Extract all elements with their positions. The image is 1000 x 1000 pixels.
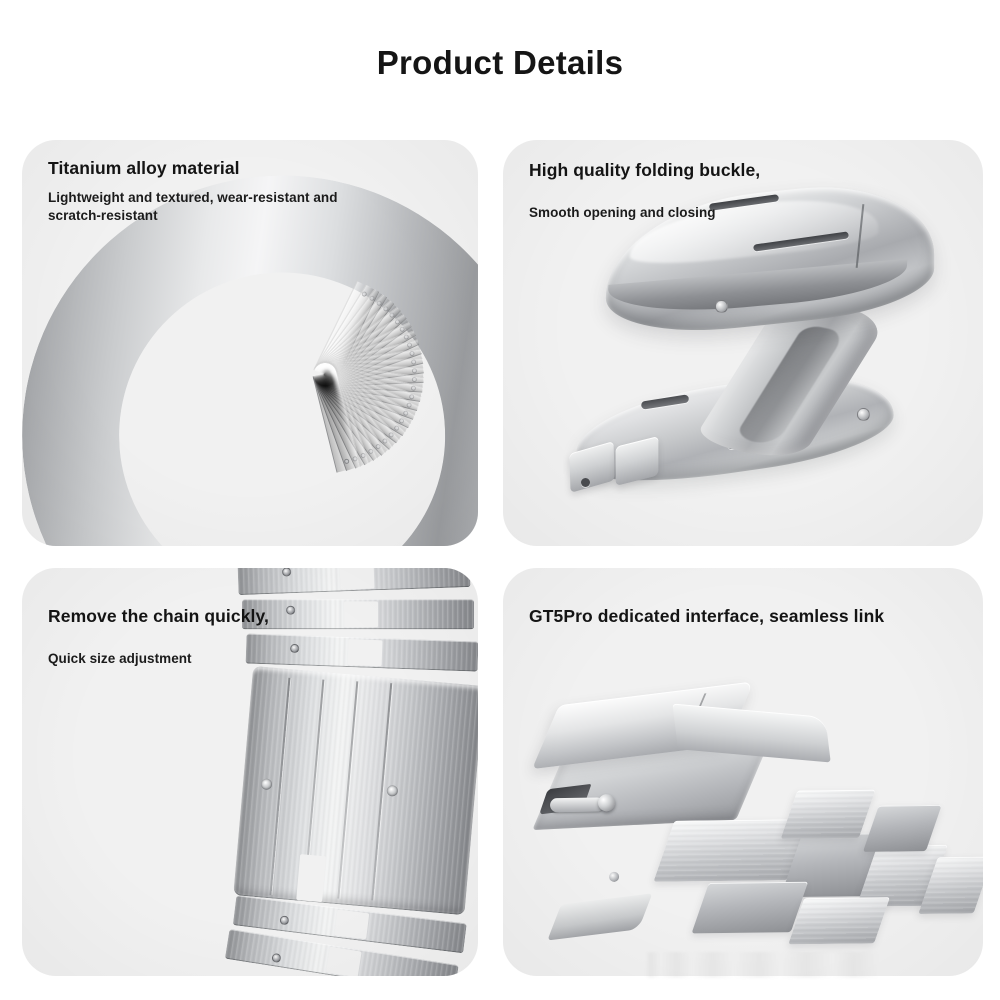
link-notch [326, 947, 362, 976]
link-notch [348, 639, 383, 666]
link-pin [286, 606, 295, 615]
bracelet-link [781, 790, 876, 839]
folding-buckle-image [503, 140, 983, 546]
titanium-bracelet-image [22, 140, 478, 546]
bracelet-link [692, 882, 809, 934]
link-notch [344, 601, 378, 627]
panel-folding-buckle: High quality folding buckle, Smooth open… [503, 140, 983, 546]
watermark [640, 952, 900, 978]
removable-link-bracelet-image [22, 568, 478, 976]
panel-gt5pro-interface: GT5Pro dedicated interface, seamless lin… [503, 568, 983, 976]
panel-remove-chain-quickly: Remove the chain quickly, Quick size adj… [22, 568, 478, 976]
bracelet-link [788, 897, 890, 944]
product-details-page: Product Details Titanium alloy material … [0, 0, 1000, 1000]
link-notch [334, 910, 369, 940]
panel-titanium-alloy-material: Titanium alloy material Lightweight and … [22, 140, 478, 546]
quick-release-connector-image [503, 568, 983, 976]
page-title: Product Details [0, 44, 1000, 82]
link-notch [340, 568, 375, 590]
link-notch [296, 854, 326, 902]
